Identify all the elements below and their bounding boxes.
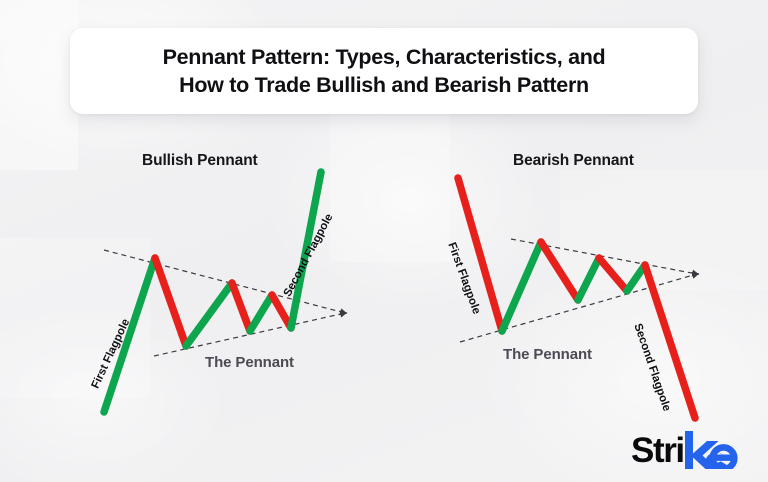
logo-ke-mark: [683, 431, 740, 469]
bullish-pennant-caption: The Pennant: [205, 354, 294, 371]
bearish-pennant-caption: The Pennant: [503, 346, 592, 363]
bearish-second-flagpole: [645, 265, 695, 418]
bullish-pennant-leg-down-2: [232, 283, 250, 331]
bullish-pennant-leg-up-2: [250, 295, 272, 331]
bearish-pennant-leg-up-1: [502, 242, 541, 331]
bearish-pennant-leg-down-1: [541, 242, 578, 300]
pennant-diagrams: [0, 0, 768, 482]
bearish-pennant-leg-up-2: [578, 258, 599, 300]
logo-text-black: Stri: [631, 433, 684, 468]
logo-ke-icon: [683, 431, 740, 469]
bullish-chart-group: [104, 172, 345, 412]
bullish-pennant-leg-down-1: [155, 258, 186, 346]
bullish-pennant-leg-up-1: [186, 283, 232, 346]
bearish-pennant-leg-down-2: [599, 258, 627, 291]
bearish-pennant-leg-up-3: [627, 265, 645, 291]
strike-logo: Stri: [631, 430, 740, 470]
page-canvas: Pennant Pattern: Types, Characteristics,…: [0, 0, 768, 482]
